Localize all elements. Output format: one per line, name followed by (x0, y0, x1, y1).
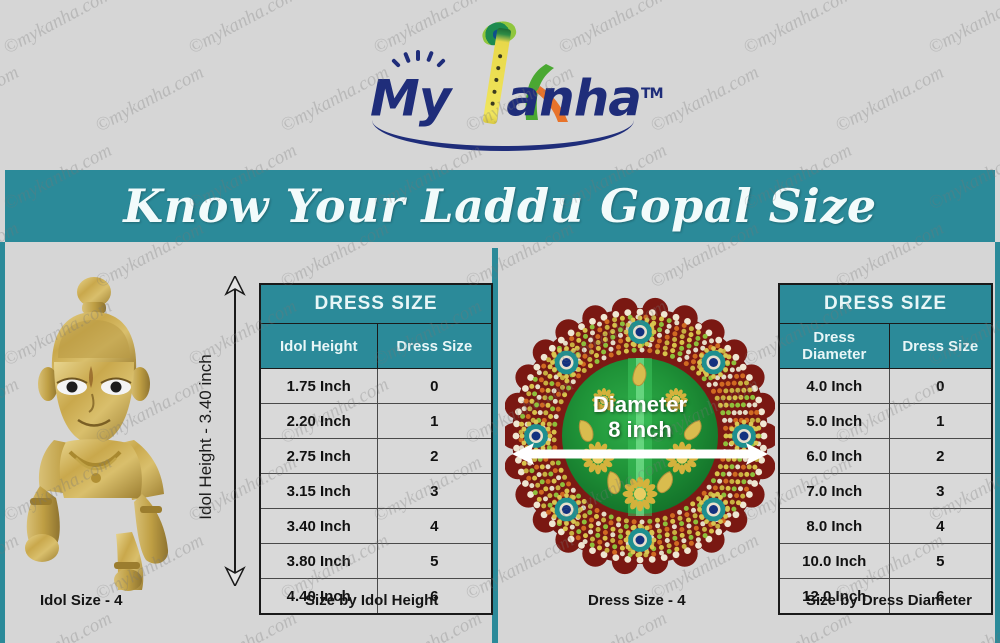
table-cell-1: 3 (377, 474, 492, 509)
idol-image (14, 262, 199, 592)
logo-wordmark: MyanhaTM (370, 66, 640, 128)
table-header-1: Dress Size (377, 324, 492, 369)
table-cell-0: 3.15 Inch (260, 474, 377, 509)
table-cell-1: 1 (377, 404, 492, 439)
table-row: 6.0 Inch2 (779, 439, 992, 474)
logo-anha-text: anha (506, 70, 641, 128)
right-edge-border (995, 242, 1000, 643)
table-row: 2.20 Inch1 (260, 404, 492, 439)
dress-diameter-label: Diameter 8 inch (560, 392, 720, 442)
table-row: 4.0 Inch0 (779, 369, 992, 404)
table-row: 2.75 Inch2 (260, 439, 492, 474)
table-header-1: Dress Size (889, 324, 992, 369)
table-row: 1.75 Inch0 (260, 369, 492, 404)
title-banner: Know Your Laddu Gopal Size (5, 170, 995, 242)
table-title-row: DRESS SIZE (260, 284, 492, 324)
table-cell-1: 5 (377, 544, 492, 579)
table-cell-1: 2 (889, 439, 992, 474)
table-header-0: Dress Diameter (779, 324, 889, 369)
table-row: 5.0 Inch1 (779, 404, 992, 439)
table-header-row: Dress DiameterDress Size (779, 324, 992, 369)
dress-size-caption: Dress Size - 4 (588, 592, 686, 609)
table-cell-0: 5.0 Inch (779, 404, 889, 439)
table-cell-0: 3.80 Inch (260, 544, 377, 579)
table-cell-1: 5 (889, 544, 992, 579)
dress-diameter-table: DRESS SIZEDress DiameterDress Size4.0 In… (778, 283, 993, 615)
dress-diameter-arrow (512, 440, 768, 468)
table-cell-0: 2.20 Inch (260, 404, 377, 439)
table-cell-0: 7.0 Inch (779, 474, 889, 509)
table-cell-1: 4 (377, 509, 492, 544)
idol-height-table-body: DRESS SIZEIdol HeightDress Size1.75 Inch… (260, 284, 492, 614)
logo-underline-swoosh (372, 120, 634, 151)
table-cell-1: 4 (889, 509, 992, 544)
left-edge-border (0, 242, 5, 643)
idol-height-table: DRESS SIZEIdol HeightDress Size1.75 Inch… (259, 283, 493, 615)
header-strip: MyanhaTM (0, 0, 1000, 167)
table-row: 3.15 Inch3 (260, 474, 492, 509)
table-cell-1: 3 (889, 474, 992, 509)
watermark: ©mykanha.com (0, 608, 116, 643)
table-cell-0: 8.0 Inch (779, 509, 889, 544)
table-row: 3.40 Inch4 (260, 509, 492, 544)
table-title: DRESS SIZE (779, 284, 992, 324)
table-cell-0: 1.75 Inch (260, 369, 377, 404)
table-cell-0: 10.0 Inch (779, 544, 889, 579)
table-cell-1: 0 (889, 369, 992, 404)
table-cell-0: 2.75 Inch (260, 439, 377, 474)
idol-height-label-text: Idol Height - 3.40 inch (196, 292, 216, 582)
dress-diameter-line1: Diameter (560, 392, 720, 417)
table-header-row: Idol HeightDress Size (260, 324, 492, 369)
page-title: Know Your Laddu Gopal Size (5, 170, 995, 242)
dress-diameter-line2: 8 inch (560, 417, 720, 442)
idol-height-label: Idol Height - 3.40 inch (196, 0, 220, 290)
table-row: 3.80 Inch5 (260, 544, 492, 579)
table-cell-1: 1 (889, 404, 992, 439)
table-row: 10.0 Inch5 (779, 544, 992, 579)
dress-diameter-table-body: DRESS SIZEDress DiameterDress Size4.0 In… (779, 284, 992, 614)
table-cell-1: 0 (377, 369, 492, 404)
logo-my-text: My (370, 70, 450, 128)
table-header-0: Idol Height (260, 324, 377, 369)
table-cell-0: 6.0 Inch (779, 439, 889, 474)
table-row: 8.0 Inch4 (779, 509, 992, 544)
infographic-canvas: MyanhaTM Know Your Laddu Gopal Size (0, 0, 1000, 643)
size-by-idol-height-caption: Size by Idol Height (305, 592, 438, 609)
logo-tm-mark: TM (641, 86, 662, 102)
idol-height-arrow (224, 276, 246, 586)
table-title-row: DRESS SIZE (779, 284, 992, 324)
mykanha-logo[interactable]: MyanhaTM (370, 28, 640, 138)
watermark: ©mykanha.com (555, 608, 671, 643)
table-cell-0: 3.40 Inch (260, 509, 377, 544)
table-title: DRESS SIZE (260, 284, 492, 324)
idol-size-caption: Idol Size - 4 (40, 592, 123, 609)
table-row: 7.0 Inch3 (779, 474, 992, 509)
table-cell-1: 2 (377, 439, 492, 474)
table-cell-0: 4.0 Inch (779, 369, 889, 404)
size-by-dress-diameter-caption: Size by Dress Diameter (806, 592, 972, 609)
